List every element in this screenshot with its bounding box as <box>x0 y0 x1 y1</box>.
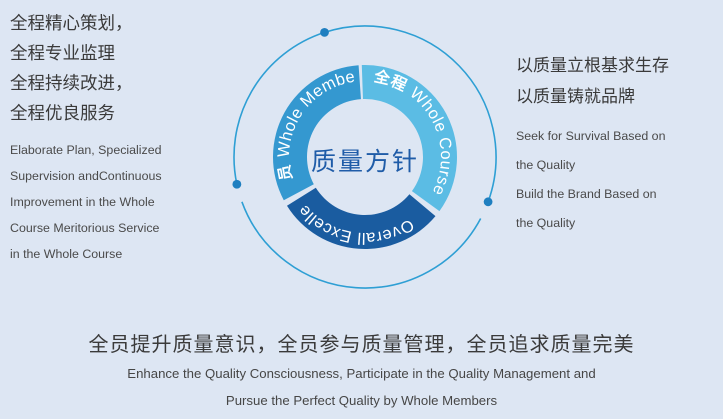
right-text-block: 以质量立根基求生存 以质量铸就品牌 Seek for Survival Base… <box>516 50 716 238</box>
right-english-line-4: the Quality <box>516 209 716 238</box>
segment-label-en-whole-member: Whole Member <box>229 10 357 158</box>
left-chinese-line-4: 全程优良服务 <box>10 98 225 128</box>
right-english-line-1: Seek for Survival Based on <box>516 122 716 151</box>
right-chinese-line-1: 以质量立根基求生存 <box>516 50 716 81</box>
left-english-line-2: Supervision andContinuous <box>10 163 225 189</box>
right-chinese-line-2: 以质量铸就品牌 <box>516 81 716 112</box>
quality-policy-donut-chart: 全程 Whole Course全优 Overall Excellence全员 W… <box>232 24 498 290</box>
bottom-chinese-slogan: 全员提升质量意识，全员参与质量管理，全员追求质量完美 <box>0 330 723 360</box>
quality-policy-infographic: 全程精心策划， 全程专业监理 全程持续改进， 全程优良服务 Elaborate … <box>0 0 723 419</box>
right-english-line-3: Build the Brand Based on <box>516 180 716 209</box>
left-english-line-4: Course Meritorious Service <box>10 215 225 241</box>
segment-label-whole-course: 全程 Whole Course <box>371 66 455 198</box>
outer-ring-dot-2 <box>484 197 493 206</box>
donut-center-label: 质量方针 <box>232 142 498 178</box>
left-english-line-5: in the Whole Course <box>10 241 225 267</box>
segment-label-cn-overall-excellence: 全优 <box>223 9 422 229</box>
outer-ring-dot-1 <box>320 28 329 37</box>
bottom-english-line-1: Enhance the Quality Consciousness, Parti… <box>0 360 723 387</box>
left-chinese-line-1: 全程精心策划， <box>10 8 225 38</box>
left-text-block: 全程精心策划， 全程专业监理 全程持续改进， 全程优良服务 Elaborate … <box>10 8 225 267</box>
left-english-line-3: Improvement in the Whole <box>10 189 225 215</box>
right-english-line-2: the Quality <box>516 151 716 180</box>
bottom-english-line-2: Pursue the Perfect Quality by Whole Memb… <box>0 387 723 414</box>
outer-ring-dot-3 <box>232 180 241 189</box>
left-chinese-line-3: 全程持续改进， <box>10 68 225 98</box>
left-chinese-line-2: 全程专业监理 <box>10 38 225 68</box>
bottom-text-block: 全员提升质量意识，全员参与质量管理，全员追求质量完美 Enhance the Q… <box>0 330 723 414</box>
left-english-line-1: Elaborate Plan, Specialized <box>10 137 225 163</box>
